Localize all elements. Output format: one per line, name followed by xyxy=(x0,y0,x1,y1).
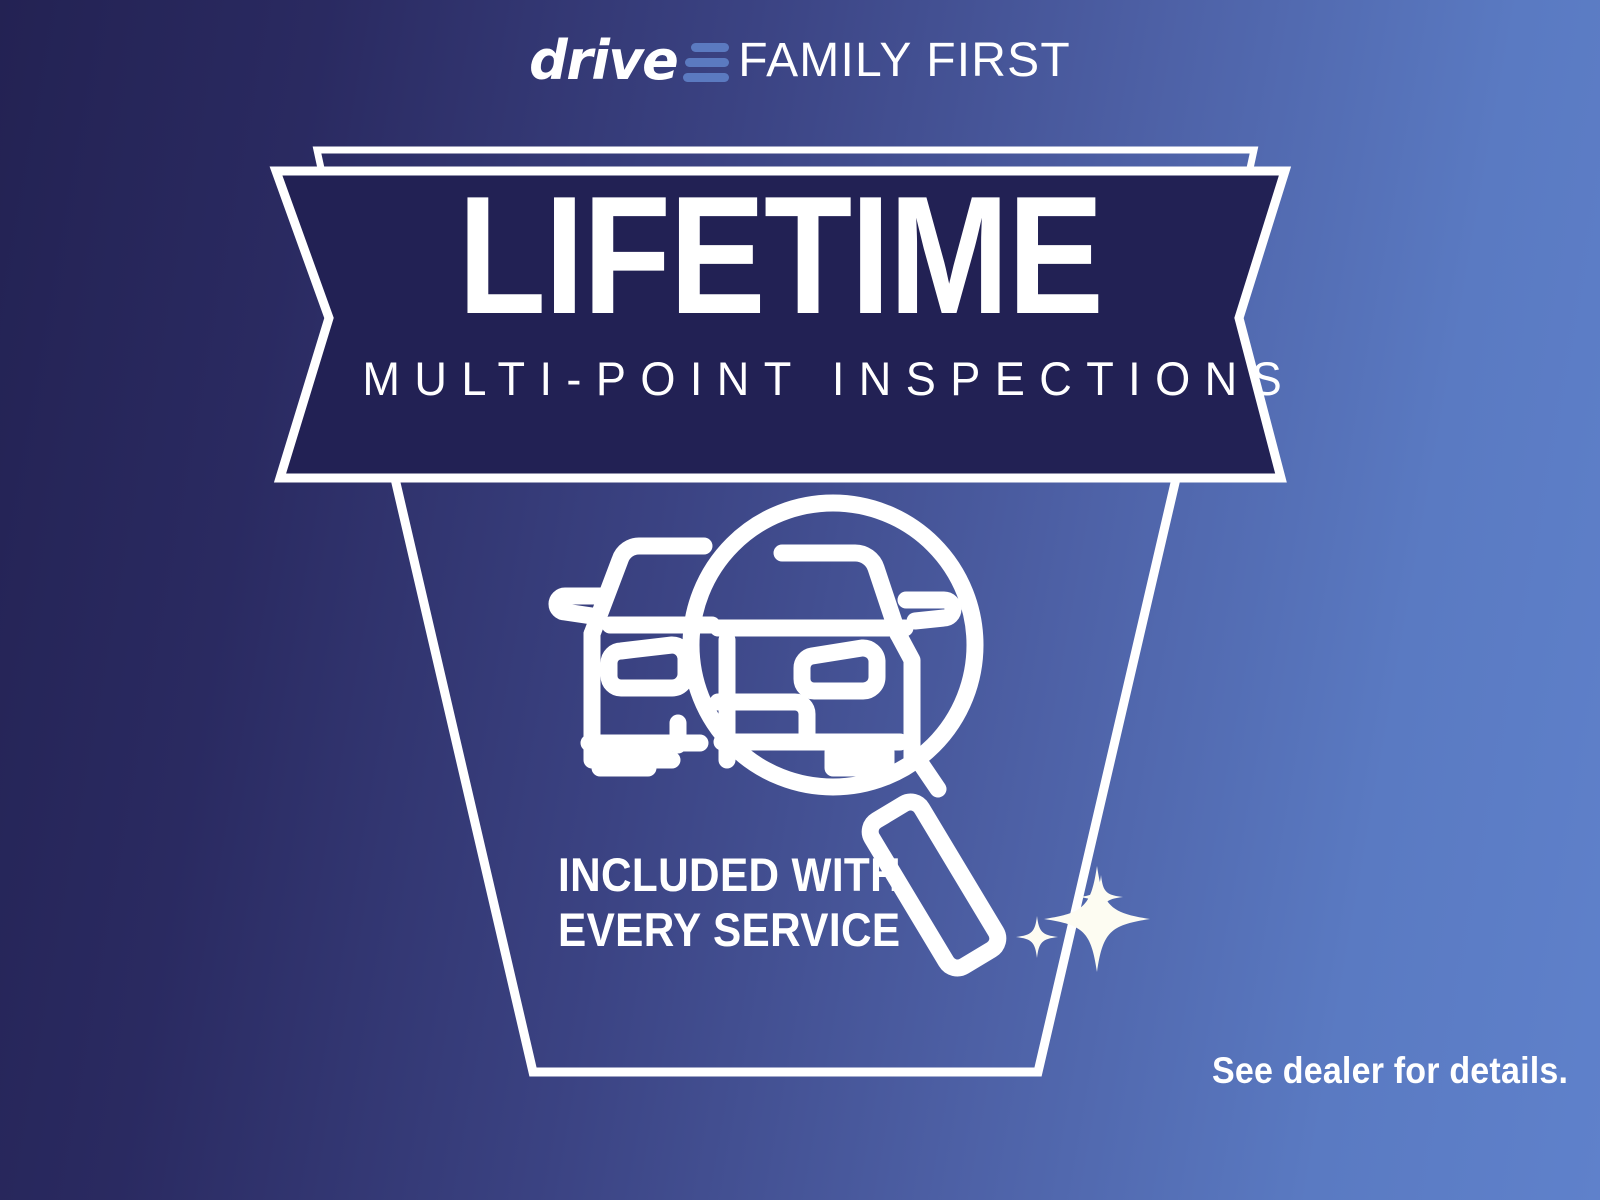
emblem-artwork xyxy=(0,0,1600,1200)
promo-graphic: drive FAMILY FIRST xyxy=(0,0,1600,1200)
included-with-every-service-text: INCLUDED WITH EVERY SERVICE xyxy=(558,848,901,957)
disclaimer-text: See dealer for details. xyxy=(1212,1050,1568,1092)
ribbon-banner xyxy=(276,171,1285,478)
